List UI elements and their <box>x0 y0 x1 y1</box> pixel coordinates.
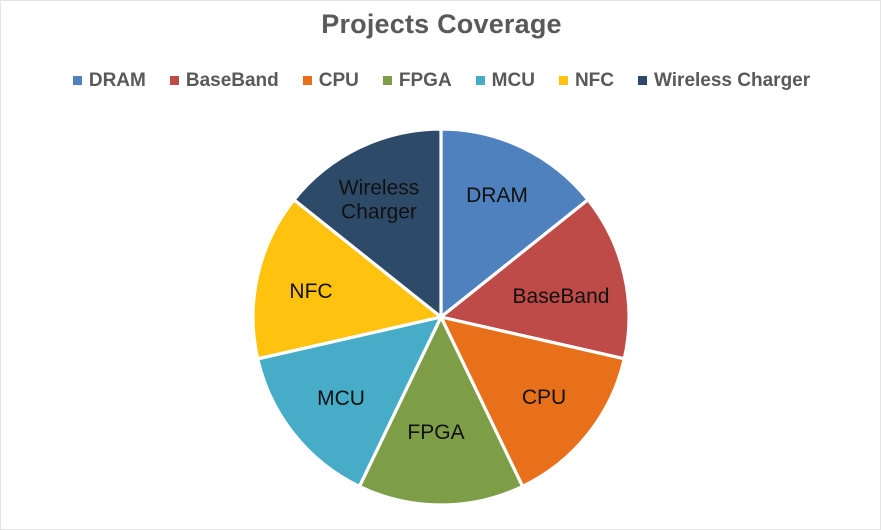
pie-svg <box>1 1 881 530</box>
pie-chart: DRAMBaseBandCPUFPGAMCUNFCWireless Charge… <box>1 1 881 530</box>
chart-card: Projects Coverage DRAMBaseBandCPUFPGAMCU… <box>0 0 881 530</box>
